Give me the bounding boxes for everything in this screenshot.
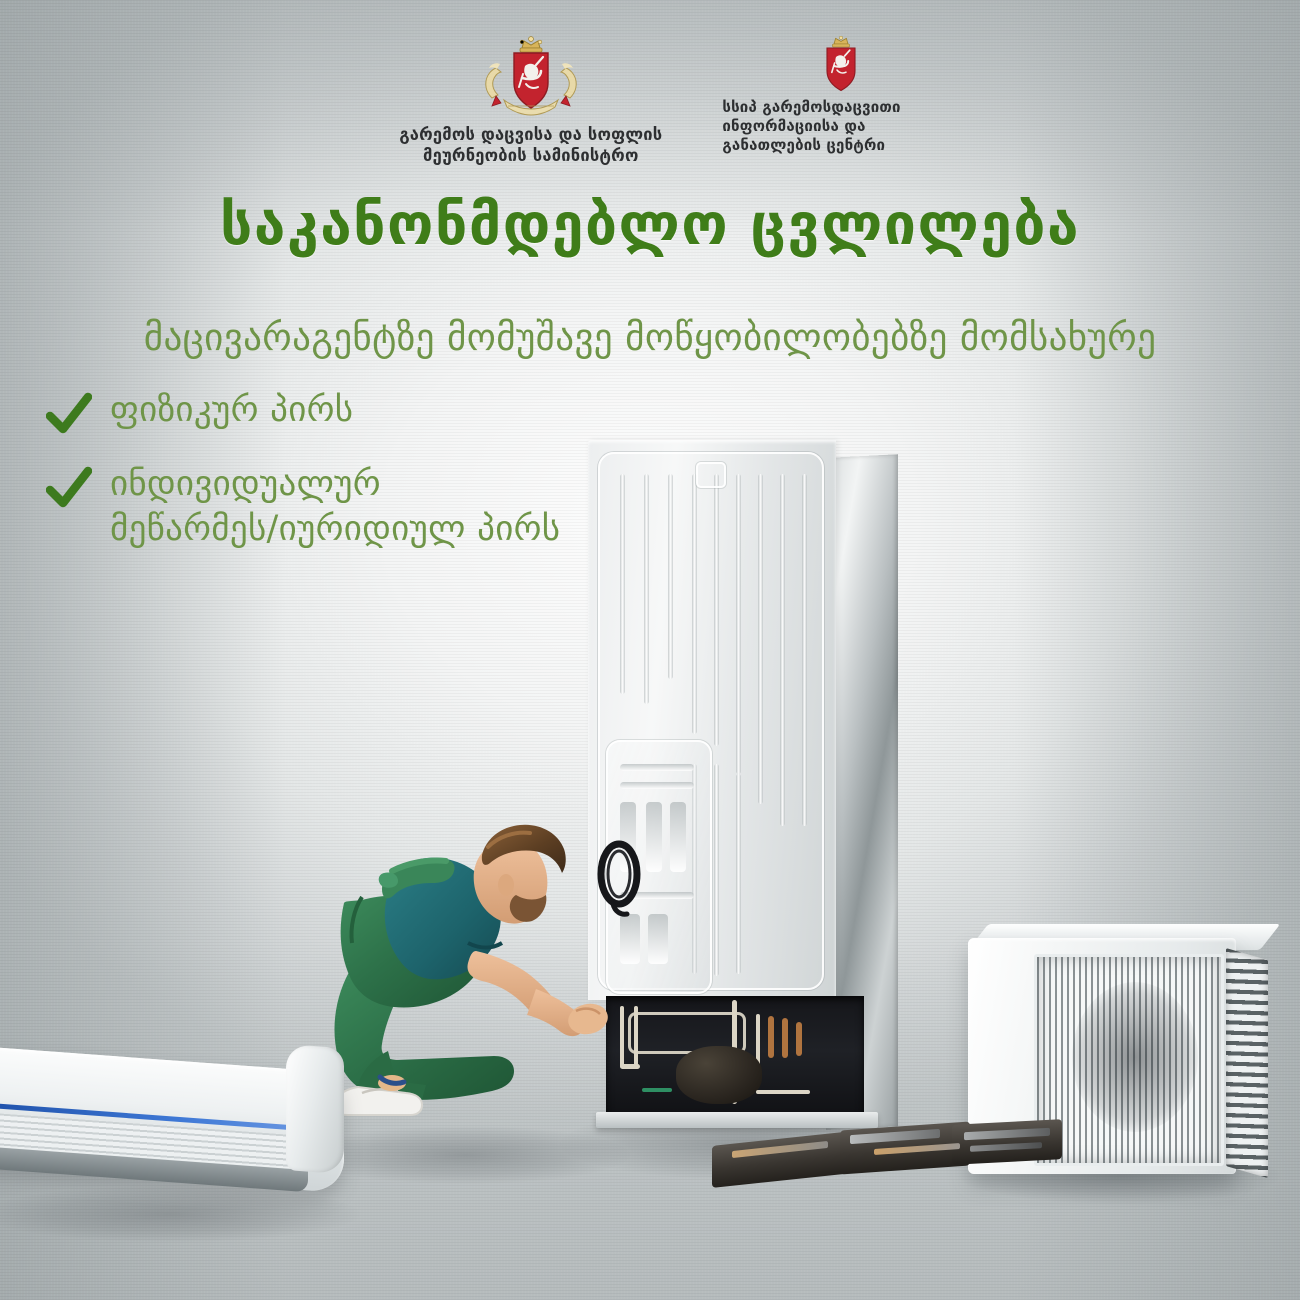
toolbox [712,1116,1062,1188]
check-icon [46,392,92,436]
check-icon [46,466,92,510]
ac-outdoor-fan-shadow [1072,982,1198,1132]
logo-ministry-label: გარემოს დაცვისა და სოფლის მეურნეობის სამ… [399,124,662,166]
georgia-coat-of-arms-icon [478,34,584,120]
toolbox-tray-right [952,1119,1062,1165]
header-logos: გარემოს დაცვისა და სოფლის მეურნეობის სამ… [0,34,1300,174]
logo-center: სსიპ გარემოსდაცვითი ინფორმაციისა და განა… [722,34,900,156]
page-title: საკანონმდებლო ცვლილება [0,192,1300,258]
logo-center-label: სსიპ გარემოსდაცვითი ინფორმაციისა და განა… [722,98,900,156]
bullet-list: ფიზიკურ პირს ინდივიდუალურ მეწარმეს/იურიდ… [46,388,686,578]
bullet-label-2: ინდივიდუალურ მეწარმეს/იურიდიულ პირს [110,462,560,552]
georgia-coat-of-arms-small-icon [819,36,863,92]
ac-indoor-unit [0,1046,344,1231]
page-subtitle: მაცივარაგენტზე მომუშავე მოწყობილობებზე მ… [0,316,1300,359]
bullet-label-1: ფიზიკურ პირს [110,388,353,433]
technician [300,735,700,1155]
list-item: ფიზიკურ პირს [46,388,686,436]
ac-indoor-end-cap [286,1044,344,1174]
poster-canvas: გარემოს დაცვისა და სოფლის მეურნეობის სამ… [0,0,1300,1300]
refrigerator-vent-notch [696,462,726,488]
ac-outdoor-side-vent [1226,948,1268,1178]
logo-ministry: გარემოს დაცვისა და სოფლის მეურნეობის სამ… [399,34,662,166]
list-item: ინდივიდუალურ მეწარმეს/იურიდიულ პირს [46,462,686,552]
power-cable-coil [595,838,643,918]
